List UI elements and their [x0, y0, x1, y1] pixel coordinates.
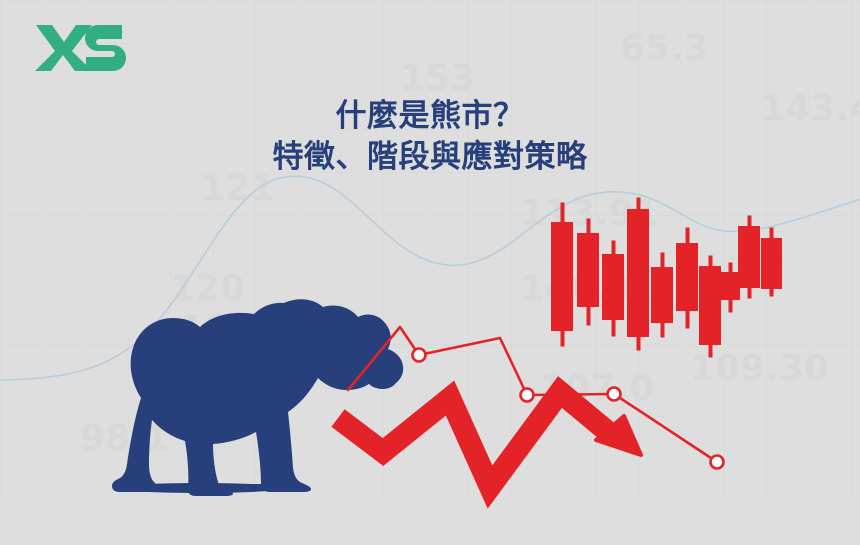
- ground-line: [117, 484, 284, 489]
- bear-body: [112, 299, 403, 496]
- price-marker: [413, 349, 426, 362]
- candle: [551, 203, 573, 346]
- price-marker: [521, 389, 534, 402]
- candle: [577, 219, 599, 325]
- candle: [676, 228, 698, 328]
- candle: [602, 241, 624, 336]
- candlestick-chart: [551, 198, 782, 357]
- downtrend-arrow: [338, 392, 641, 487]
- candle: [627, 198, 649, 350]
- price-marker: [608, 388, 621, 401]
- price-marker: [711, 456, 724, 469]
- bear-market-banner: 153 65.3 143.4 121 113.91 120 140.3 107.…: [0, 0, 860, 545]
- candle: [761, 228, 782, 296]
- candle: [738, 216, 760, 298]
- downtrend-arrow-shaft: [338, 392, 614, 487]
- candle: [651, 253, 673, 337]
- bear-silhouette: [112, 299, 403, 496]
- candle: [699, 256, 721, 357]
- candle: [720, 263, 740, 312]
- illustration-graphics: [0, 0, 860, 545]
